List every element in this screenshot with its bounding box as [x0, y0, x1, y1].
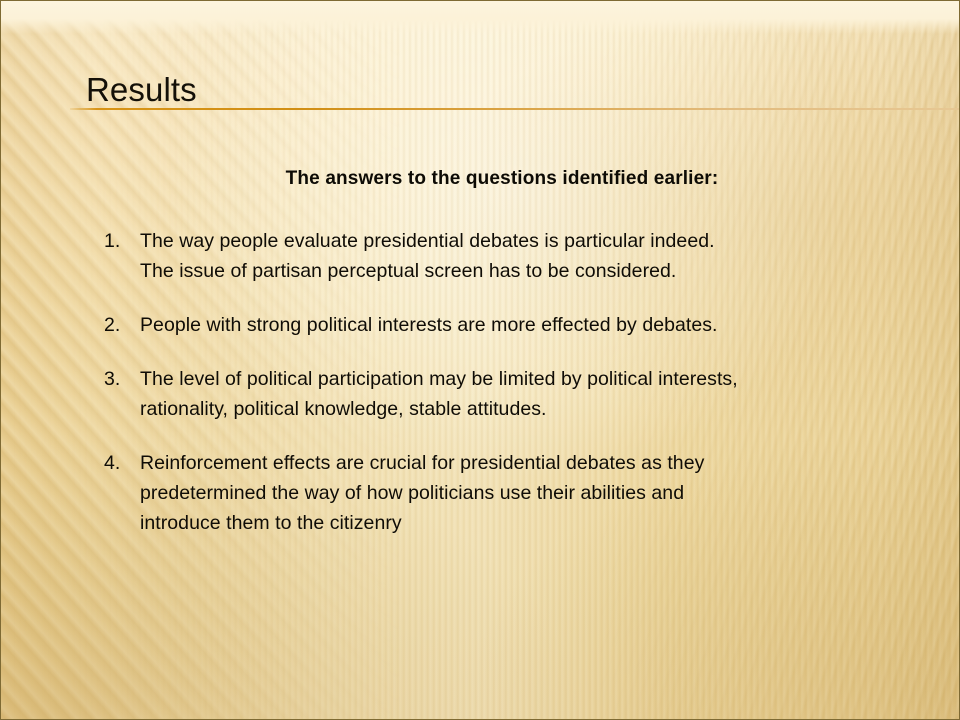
list-item-text: The level of political participation may… — [140, 364, 894, 424]
slide-subheading: The answers to the questions identified … — [104, 166, 900, 192]
list-item: 2.People with strong political interests… — [104, 310, 894, 340]
title-divider-rule — [70, 108, 960, 110]
list-item-line: Reinforcement effects are crucial for pr… — [140, 448, 894, 478]
list-item-line: introduce them to the citizenry — [140, 508, 894, 538]
list-item: 4.Reinforcement effects are crucial for … — [104, 448, 894, 538]
list-item: 1.The way people evaluate presidential d… — [104, 226, 894, 286]
list-item-marker: 3. — [104, 364, 140, 394]
numbered-list: 1.The way people evaluate presidential d… — [104, 226, 894, 538]
presentation-slide: Results The answers to the questions ide… — [0, 0, 960, 720]
list-item-line: predetermined the way of how politicians… — [140, 478, 894, 508]
list-item-marker: 2. — [104, 310, 140, 340]
list-item-text: The way people evaluate presidential deb… — [140, 226, 894, 286]
list-item-line: rationality, political knowledge, stable… — [140, 394, 894, 424]
list-item-line: The level of political participation may… — [140, 364, 894, 394]
list-item-line: The issue of partisan perceptual screen … — [140, 256, 894, 286]
list-item-marker: 4. — [104, 448, 140, 478]
slide-content: Results The answers to the questions ide… — [0, 0, 960, 720]
page-title: Results — [86, 70, 197, 110]
list-item-line: The way people evaluate presidential deb… — [140, 226, 894, 256]
list-item-marker: 1. — [104, 226, 140, 256]
list-item-text: People with strong political interests a… — [140, 310, 894, 340]
list-item-line: People with strong political interests a… — [140, 310, 894, 340]
list-item: 3.The level of political participation m… — [104, 364, 894, 424]
list-item-text: Reinforcement effects are crucial for pr… — [140, 448, 894, 538]
